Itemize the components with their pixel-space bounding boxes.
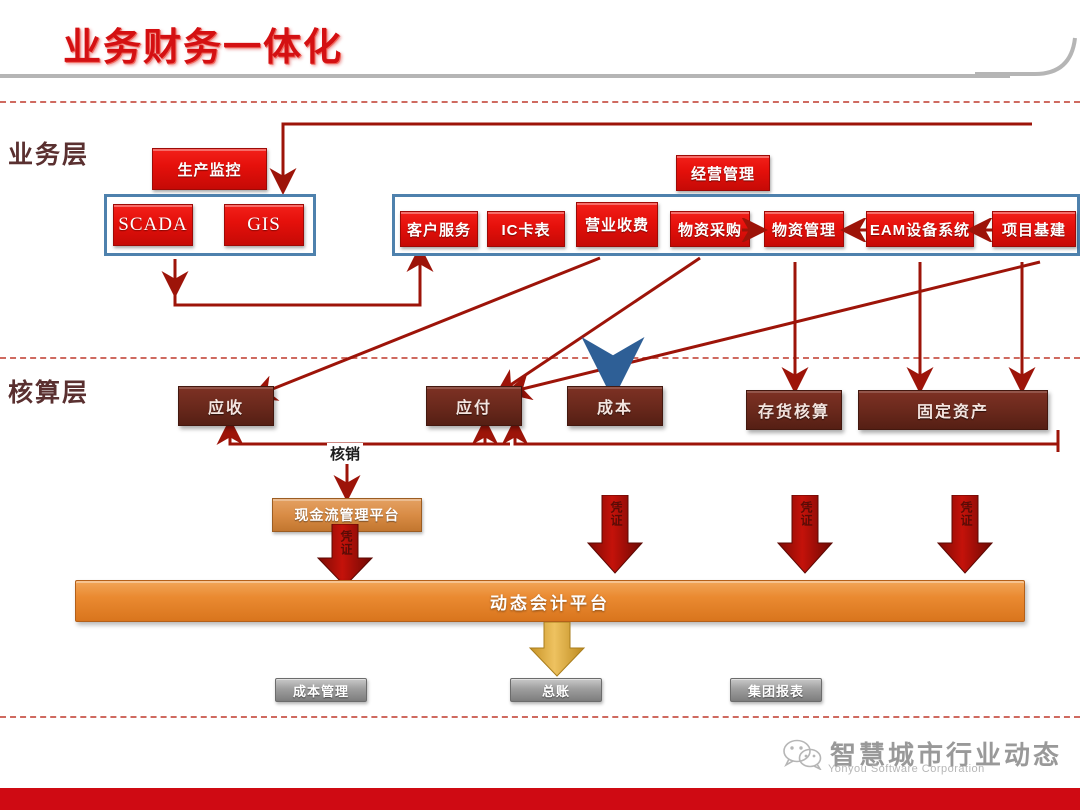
box-cost-management[interactable]: 成本管理 — [275, 678, 367, 702]
box-gis[interactable]: GIS — [224, 204, 304, 246]
slide-canvas: 业务财务一体化 业务层 核算层 — [0, 0, 1080, 810]
box-group-report[interactable]: 集团报表 — [730, 678, 822, 702]
box-ic-card-meter[interactable]: IC卡表 — [487, 211, 565, 247]
box-dynamic-accounting-platform[interactable]: 动态会计平台 — [75, 580, 1025, 622]
box-production-monitoring[interactable]: 生产监控 — [152, 148, 267, 190]
watermark-subtitle: Yonyou Software Corporation — [828, 763, 985, 775]
voucher-arrow-label-3: 凭证 — [798, 501, 815, 527]
box-general-ledger[interactable]: 总账 — [510, 678, 602, 702]
page-title: 业务财务一体化 — [63, 16, 343, 71]
edge-label-writeoff: 核销 — [327, 443, 363, 464]
voucher-arrow-3: 凭证 — [770, 495, 840, 580]
arrow-eam-to-material — [840, 218, 870, 242]
voucher-arrow-2: 凭证 — [580, 495, 650, 580]
box-operation-management[interactable]: 经营管理 — [676, 155, 770, 191]
box-payable[interactable]: 应付 — [426, 386, 522, 426]
box-scada[interactable]: SCADA — [113, 204, 193, 246]
wechat-icon — [782, 738, 824, 770]
layer-label-business: 业务层 — [8, 135, 89, 171]
box-cost[interactable]: 成本 — [567, 386, 663, 426]
layer-label-accounting: 核算层 — [8, 373, 89, 409]
box-fixed-assets[interactable]: 固定资产 — [858, 390, 1048, 430]
box-project-construction[interactable]: 项目基建 — [992, 211, 1076, 247]
voucher-arrow-4: 凭证 — [930, 495, 1000, 580]
voucher-arrow-label-4: 凭证 — [958, 501, 975, 527]
separator-middle — [0, 357, 1080, 359]
box-business-billing[interactable]: 营业收费 — [576, 202, 658, 247]
box-inventory-accounting[interactable]: 存货核算 — [746, 390, 842, 430]
header-corner-curve — [975, 36, 1080, 80]
voucher-arrow-label-2: 凭证 — [608, 501, 625, 527]
bottom-accent-bar — [0, 788, 1080, 810]
arrow-project-to-eam — [966, 218, 996, 242]
box-receivable[interactable]: 应收 — [178, 386, 274, 426]
ledger-arrow — [522, 622, 592, 683]
voucher-arrow-label-1: 凭证 — [338, 530, 355, 556]
header-rule — [0, 74, 1010, 78]
footer-watermark: 智慧城市行业动态 Yonyou Software Corporation — [782, 735, 1062, 772]
separator-top — [0, 101, 1080, 103]
box-eam-equipment-system[interactable]: EAM设备系统 — [866, 211, 974, 247]
box-customer-service[interactable]: 客户服务 — [400, 211, 478, 247]
box-material-purchasing[interactable]: 物资采购 — [670, 211, 750, 247]
separator-bottom — [0, 716, 1080, 718]
